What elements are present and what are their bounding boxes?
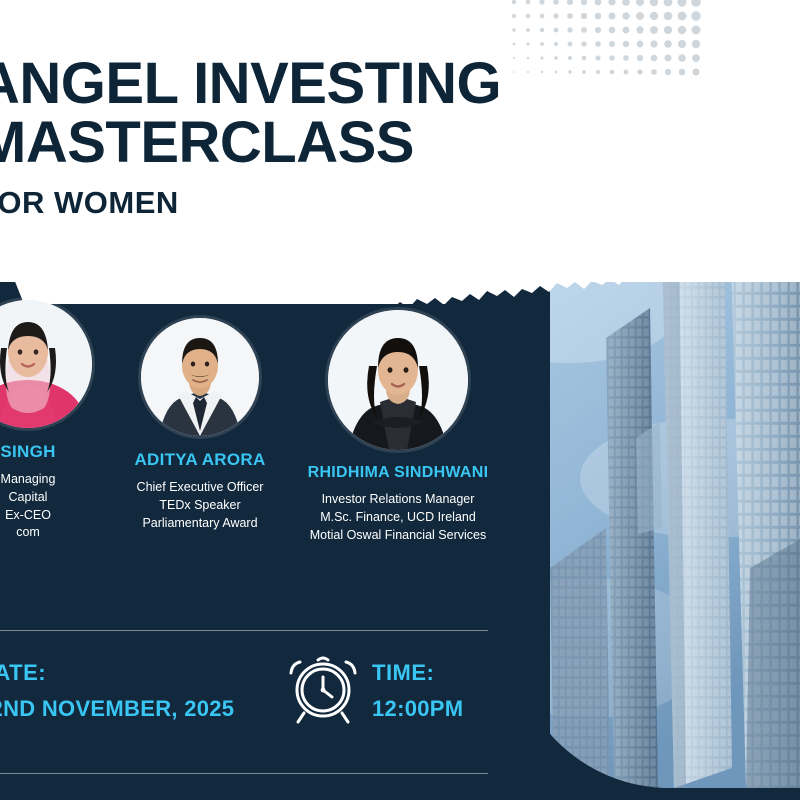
woman-in-pink-portrait (0, 300, 92, 428)
speaker-card-2: RHIDHIMA SINDHWANI Investor Relations Ma… (288, 310, 508, 544)
alarm-clock-svg (284, 648, 362, 726)
man-in-suit-portrait (141, 318, 259, 436)
torn-edge-svg (0, 244, 800, 304)
speaker-roles-0: Managing Capital Ex-CEO com (0, 471, 118, 542)
date-label: DATE: (0, 660, 234, 686)
speaker-avatar-2 (328, 310, 468, 450)
date-time-row: DATE: 22ND NOVEMBER, 2025 TIME: 12:00PM (0, 648, 560, 758)
title-line-2: MASTERCLASS (0, 115, 538, 172)
halftone-dot-pattern (508, 0, 708, 86)
speaker-avatar-1 (141, 318, 259, 436)
title-line-1: ANGEL INVESTING (0, 56, 538, 113)
poster-canvas: ANGEL INVESTING MASTERCLASS FOR WOMEN (0, 0, 800, 800)
speaker-card-1: ADITYA ARORA Chief Executive Officer TED… (110, 318, 290, 532)
alarm-clock-icon (284, 648, 362, 726)
poster-title: ANGEL INVESTING MASTERCLASS FOR WOMEN (0, 56, 538, 218)
speaker-roles-2: Investor Relations Manager M.Sc. Finance… (288, 491, 508, 544)
speaker-roles-1: Chief Executive Officer TEDx Speaker Par… (110, 479, 290, 532)
time-block: TIME: 12:00PM (372, 660, 463, 722)
time-value: 12:00PM (372, 696, 463, 722)
woman-in-black-blazer-portrait (328, 310, 468, 450)
speaker-avatar-0 (0, 300, 92, 428)
speaker-name-1: ADITYA ARORA (110, 450, 290, 470)
date-block: DATE: 22ND NOVEMBER, 2025 (0, 660, 234, 722)
divider-bottom (0, 773, 488, 774)
date-value: 22ND NOVEMBER, 2025 (0, 696, 234, 722)
title-line-3: FOR WOMEN (0, 188, 538, 218)
time-label: TIME: (372, 660, 463, 686)
divider-top (0, 630, 488, 631)
speaker-name-2: RHIDHIMA SINDHWANI (288, 464, 508, 482)
torn-paper-edge (0, 244, 800, 304)
speaker-card-0: SINGH Managing Capital Ex-CEO com (0, 300, 118, 542)
halftone-svg (508, 0, 708, 86)
speaker-name-0: SINGH (0, 442, 118, 462)
